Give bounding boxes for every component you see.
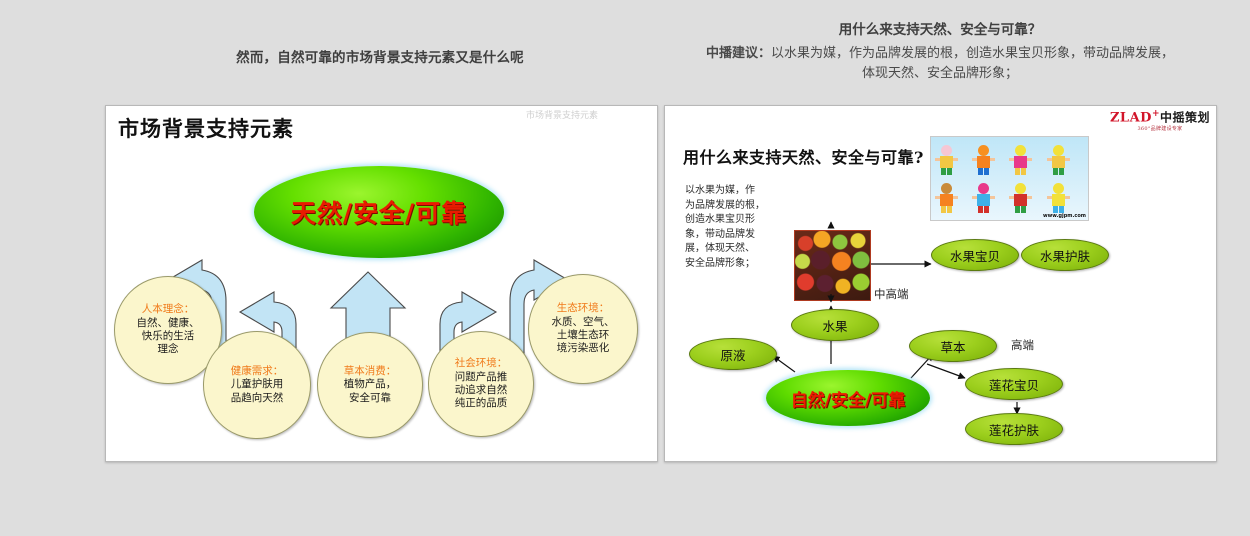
right-slide-caption-body: 中播建议：以水果为媒，作为品牌发展的根，创造水果宝贝形象，带动品牌发展，体现天然… — [700, 44, 1180, 84]
support-bubble: 生态环境： 水质、空气、 土壤生态环 境污染恶化 — [528, 274, 638, 384]
bubble-heading: 生态环境： — [557, 302, 610, 315]
body-line: 创造水果宝贝形 — [685, 213, 789, 228]
bubble-line: 土壤生态环 — [557, 329, 610, 342]
node-label: 原液 — [720, 345, 745, 364]
body-line: 象，带动品牌发 — [685, 228, 789, 243]
bubble-line: 问题产品推 — [455, 371, 508, 384]
bubble-heading: 社会环境： — [455, 357, 508, 370]
bubble-line: 儿童护肤用 — [231, 378, 284, 391]
node-label: 水果宝贝 — [950, 246, 1000, 265]
bubble-line: 纯正的品质 — [455, 397, 508, 410]
right-slide-caption-title: 用什么来支持天然、安全与可靠？ — [660, 18, 1220, 38]
node-label: 草本 — [940, 337, 965, 356]
bubble-line: 快乐的生活 — [142, 330, 195, 343]
right-slide[interactable]: ZLAD+中摇策划 360°品牌建设专家 用什么来支持天然、安全与可靠? 以水果… — [664, 105, 1217, 462]
node-yuanye: 原液 — [689, 338, 777, 370]
header-area: 然而，自然可靠的市场背景支持元素又是什么呢 用什么来支持天然、安全与可靠？ 中播… — [0, 0, 1250, 100]
node-shuiguo-hufu: 水果护肤 — [1021, 239, 1109, 271]
bubble-line: 水质、空气、 — [552, 316, 615, 329]
support-bubble: 社会环境： 问题产品推 动追求自然 纯正的品质 — [428, 331, 534, 437]
connector-caoben-to-lianhua — [927, 364, 965, 378]
body-line: 展，体现天然、 — [685, 242, 789, 257]
fruit-kids-mascot-image: www.gjpm.com — [930, 136, 1089, 221]
bubble-line: 品趋向天然 — [231, 392, 284, 405]
node-shuiguo: 水果 — [791, 309, 879, 341]
body-line: 以水果为媒，作 — [685, 184, 789, 199]
zlad-logo: ZLAD+中摇策划 360°品牌建设专家 — [1110, 110, 1210, 132]
left-slide[interactable]: 市场背景支持元素 市场背景支持元素 天然/安全/可靠 人本理念： 自然、健康、 … — [105, 105, 658, 462]
image-watermark: www.gjpm.com — [1043, 213, 1086, 219]
node-label: 莲花宝贝 — [989, 375, 1039, 394]
left-slide-ghost-title: 市场背景支持元素 — [526, 108, 598, 121]
tier-label-high: 高端 — [1011, 337, 1034, 353]
tier-label-mid-high: 中高端 — [874, 286, 909, 302]
body-line: 安全品牌形象； — [685, 257, 789, 272]
left-slide-caption: 然而，自然可靠的市场背景支持元素又是什么呢 — [105, 46, 655, 66]
right-slide-body-text: 以水果为媒，作 为品牌发展的根， 创造水果宝贝形 象，带动品牌发 展，体现天然、… — [685, 184, 789, 271]
bubble-line: 境污染恶化 — [557, 342, 610, 355]
bubble-line: 自然、健康、 — [137, 317, 200, 330]
fruit-basket-image — [794, 230, 871, 301]
logo-plus-icon: + — [1152, 109, 1160, 119]
node-lianhua-hufu: 莲花护肤 — [965, 413, 1063, 445]
bubble-heading: 人本理念： — [142, 303, 195, 316]
node-label: 莲花护肤 — [989, 420, 1039, 439]
right-slide-title: 用什么来支持天然、安全与可靠? — [683, 144, 924, 168]
node-label: 水果护肤 — [1040, 246, 1090, 265]
right-caption-text: 以水果为媒，作为品牌发展的根，创造水果宝贝形象，带动品牌发展，体现天然、安全品牌… — [771, 46, 1174, 81]
bubble-line: 动追求自然 — [455, 384, 508, 397]
right-caption-label: 中播建议： — [706, 46, 771, 61]
right-core-label: 自然/安全/可靠 — [791, 386, 905, 411]
node-shuiguo-baobei: 水果宝贝 — [931, 239, 1019, 271]
node-caoben: 草本 — [909, 330, 997, 362]
bubble-heading: 草本消费： — [344, 365, 397, 378]
logo-tagline: 360°品牌建设专家 — [1110, 125, 1210, 132]
node-label: 水果 — [822, 316, 847, 335]
support-bubble: 健康需求： 儿童护肤用 品趋向天然 — [203, 331, 311, 439]
support-bubble: 草本消费： 植物产品， 安全可靠 — [317, 332, 423, 438]
connector-core-to-yuanye — [773, 356, 795, 372]
right-core-ellipse: 自然/安全/可靠 — [766, 370, 930, 426]
node-lianhua-baobei: 莲花宝贝 — [965, 368, 1063, 400]
body-line: 为品牌发展的根， — [685, 199, 789, 214]
bubble-heading: 健康需求： — [231, 365, 284, 378]
bubble-line: 理念 — [158, 343, 179, 356]
left-slide-title: 市场背景支持元素 — [118, 113, 294, 143]
left-center-ellipse: 天然/安全/可靠 — [254, 166, 504, 258]
bubble-line: 植物产品， — [344, 378, 397, 391]
left-center-label: 天然/安全/可靠 — [291, 194, 467, 230]
logo-brand: ZLAD — [1110, 110, 1152, 125]
bubble-line: 安全可靠 — [349, 392, 391, 405]
logo-cn-name: 中摇策划 — [1160, 110, 1210, 124]
